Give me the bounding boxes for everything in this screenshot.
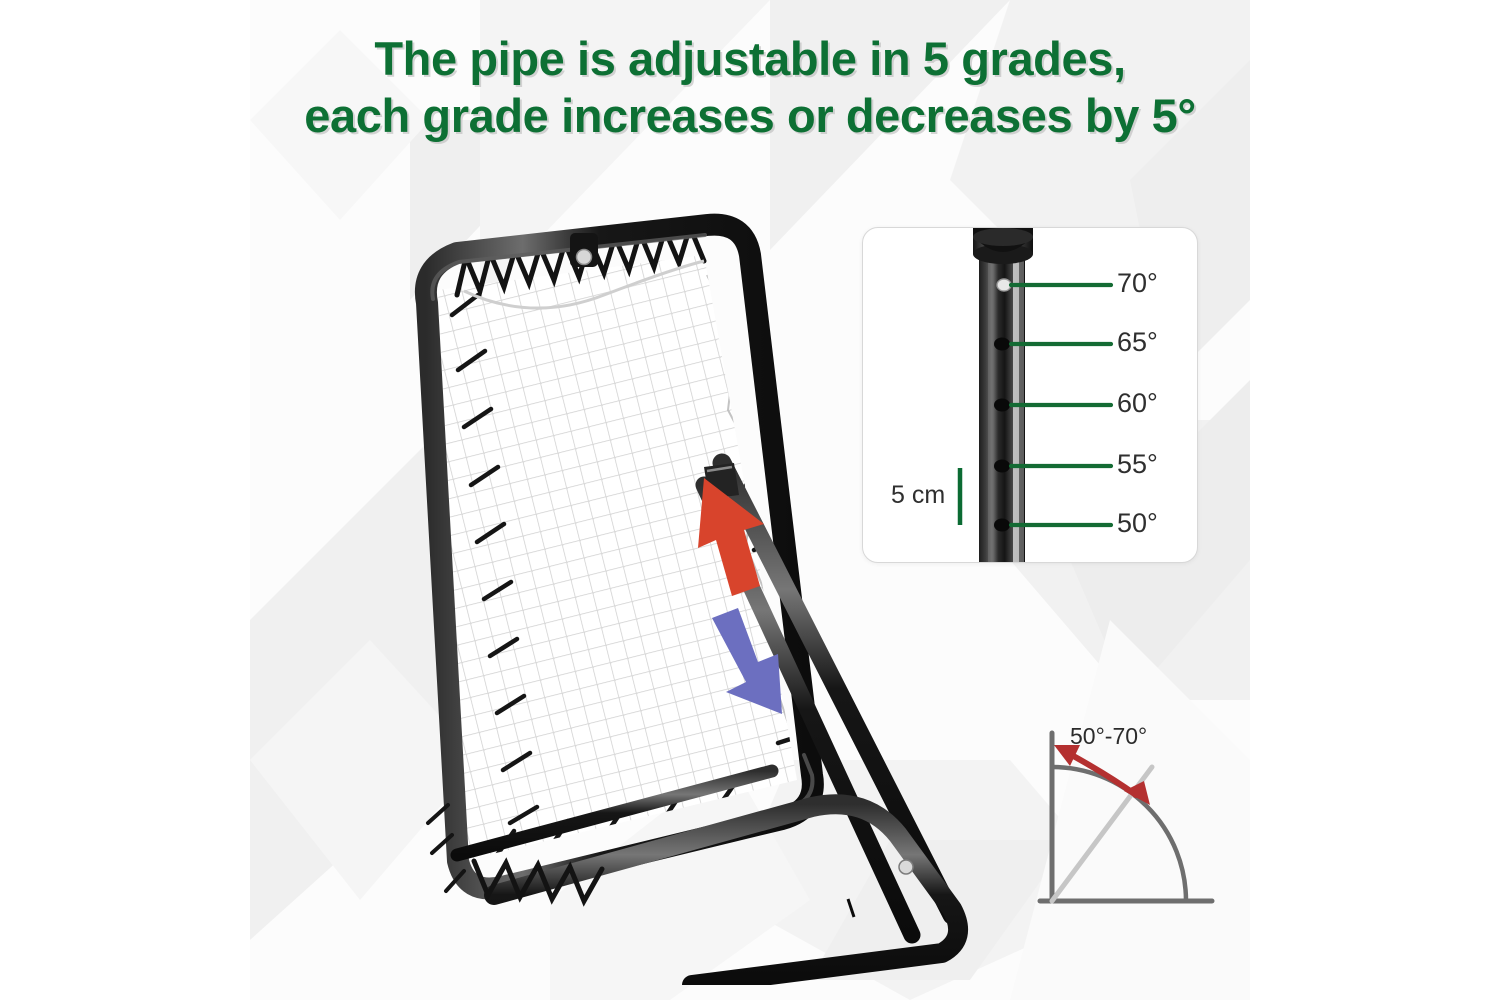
pipe-detail-card: 70° 65° 60° 55° 50° 5 cm xyxy=(862,227,1198,563)
tick-label-70: 70° xyxy=(1117,268,1158,299)
infographic-canvas: The pipe is adjustable in 5 grades, each… xyxy=(0,0,1500,1000)
scale-label-5cm: 5 cm xyxy=(891,481,945,510)
tick-label-50: 50° xyxy=(1117,508,1158,539)
decrease-angle-arrow xyxy=(712,608,782,714)
headline-line-2: each grade increases or decreases by 5° xyxy=(250,87,1250,144)
headline-line-1: The pipe is adjustable in 5 grades, xyxy=(374,32,1125,85)
tick-label-55: 55° xyxy=(1117,449,1158,480)
increase-angle-arrow xyxy=(698,478,764,596)
angle-range-diagram: 50°-70° xyxy=(1000,705,1230,925)
arrows-svg xyxy=(690,430,870,750)
headline: The pipe is adjustable in 5 grades, each… xyxy=(250,30,1250,145)
adjustment-arrows xyxy=(690,430,870,750)
tick-label-65: 65° xyxy=(1117,327,1158,358)
tick-label-60: 60° xyxy=(1117,388,1158,419)
angle-range-label: 50°-70° xyxy=(1070,723,1147,750)
